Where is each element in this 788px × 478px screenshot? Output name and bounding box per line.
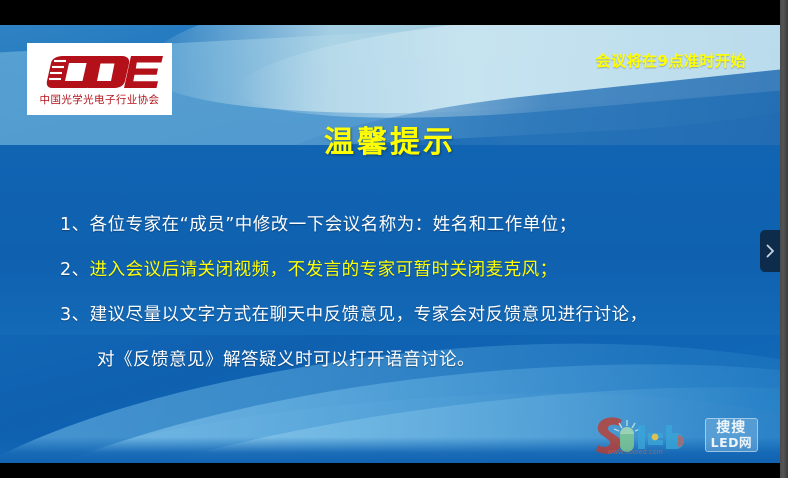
watermark-badge: 搜搜 LED网 xyxy=(705,418,758,452)
soled-logo-icon: www.sooled.com xyxy=(592,413,700,457)
meeting-window: 中国光学光电子行业协会 会议将在9点准时开始 温馨提示 1、各位专家在“成员”中… xyxy=(0,0,788,478)
window-right-border xyxy=(780,0,788,478)
tips-list: 1、各位专家在“成员”中修改一下会议名称为：姓名和工作单位； 2、进入会议后请关… xyxy=(60,203,720,383)
watermark: www.sooled.com 搜搜 LED网 xyxy=(592,413,758,457)
tip-text-2: 进入会议后请关闭视频，不发言的专家可暂时关闭麦克风； xyxy=(90,260,558,280)
tip-number-3: 3、 xyxy=(60,305,90,325)
letterbox-top xyxy=(0,0,780,25)
association-logo: 中国光学光电子行业协会 xyxy=(27,43,172,115)
watermark-url: www.sooled.com xyxy=(608,449,663,456)
expand-panel-button[interactable] xyxy=(760,230,780,272)
tip-number-2: 2、 xyxy=(60,260,90,280)
tip-item-2: 2、进入会议后请关闭视频，不发言的专家可暂时关闭麦克风； xyxy=(60,248,720,293)
tip-item-3: 3、建议尽量以文字方式在聊天中反馈意见，专家会对反馈意见进行讨论， xyxy=(60,293,720,338)
watermark-badge-line-2: LED网 xyxy=(711,436,752,449)
association-name-cn: 中国光学光电子行业协会 xyxy=(40,95,160,106)
tip-text-3-continuation: 对《反馈意见》解答疑义时可以打开语音讨论。 xyxy=(60,338,720,383)
chevron-right-icon xyxy=(766,244,775,258)
tip-text-1: 各位专家在“成员”中修改一下会议名称为：姓名和工作单位； xyxy=(90,215,577,235)
tip-text-3: 建议尽量以文字方式在聊天中反馈意见，专家会对反馈意见进行讨论， xyxy=(90,305,648,325)
watermark-badge-line-1: 搜搜 xyxy=(716,421,746,436)
tip-number-1: 1、 xyxy=(60,215,90,235)
slide-title: 温馨提示 xyxy=(0,117,780,161)
meeting-start-notice: 会议将在9点准时开始 xyxy=(596,50,746,71)
letterbox-bottom xyxy=(0,463,780,478)
coema-wordmark-icon xyxy=(36,52,164,92)
presentation-slide[interactable]: 中国光学光电子行业协会 会议将在9点准时开始 温馨提示 1、各位专家在“成员”中… xyxy=(0,25,780,463)
tip-item-1: 1、各位专家在“成员”中修改一下会议名称为：姓名和工作单位； xyxy=(60,203,720,248)
